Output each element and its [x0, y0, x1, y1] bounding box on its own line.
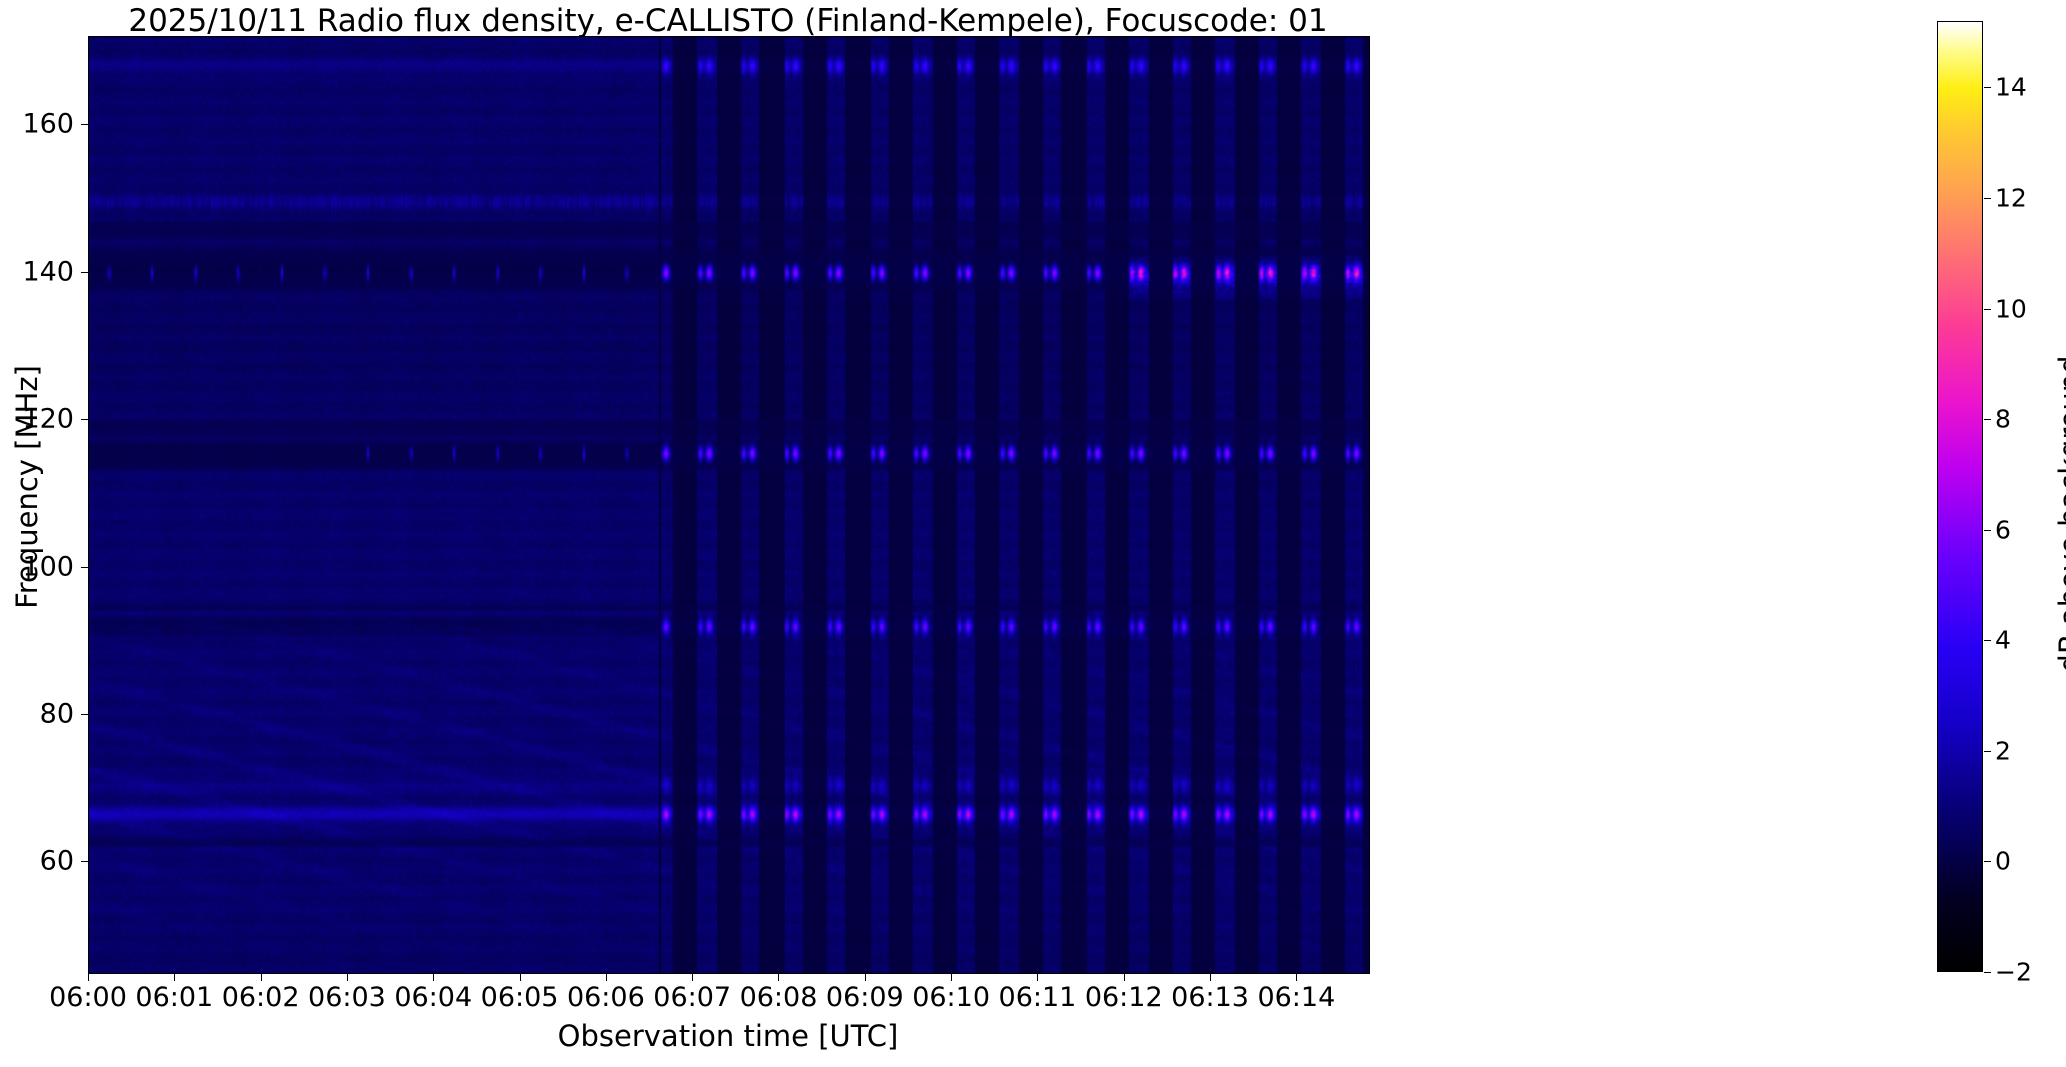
x-tick-label: 06:00: [49, 982, 127, 1013]
x-tick-mark: [174, 974, 175, 981]
x-tick-label: 06:13: [1171, 982, 1249, 1013]
colorbar-title: dB above background: [2053, 274, 2066, 754]
colorbar-tick-mark: [1984, 751, 1991, 752]
y-tick-mark: [81, 419, 88, 420]
colorbar-tick-label: 14: [1995, 73, 2027, 102]
y-axis-title: Frequency [MHz]: [10, 227, 44, 747]
x-tick-label: 06:01: [135, 982, 213, 1013]
y-tick-label: 80: [40, 699, 74, 730]
spectrogram-plot-area[interactable]: [88, 36, 1370, 974]
colorbar-tick-mark: [1984, 640, 1991, 641]
x-tick-label: 06:02: [222, 982, 300, 1013]
x-tick-mark: [1124, 974, 1125, 981]
x-tick-mark: [88, 974, 89, 981]
colorbar-tick-mark: [1984, 861, 1991, 862]
x-tick-label: 06:06: [567, 982, 645, 1013]
chart-title: 2025/10/11 Radio flux density, e-CALLIST…: [0, 3, 1456, 39]
x-tick-label: 06:05: [481, 982, 559, 1013]
colorbar-tick-label: 8: [1995, 405, 2011, 434]
x-tick-label: 06:14: [1257, 982, 1335, 1013]
x-tick-mark: [1296, 974, 1297, 981]
x-tick-label: 06:04: [394, 982, 472, 1013]
x-tick-mark: [433, 974, 434, 981]
x-tick-label: 06:03: [308, 982, 386, 1013]
colorbar-tick-label: 2: [1995, 736, 2011, 765]
colorbar-tick-mark: [1984, 419, 1991, 420]
x-tick-mark: [951, 974, 952, 981]
y-tick-mark: [81, 567, 88, 568]
colorbar-tick-mark: [1984, 309, 1991, 310]
y-tick-mark: [81, 714, 88, 715]
colorbar-tick-mark: [1984, 972, 1991, 973]
colorbar-tick-label: 0: [1995, 847, 2011, 876]
spectrogram-image: [89, 37, 1369, 973]
x-tick-label: 06:10: [912, 982, 990, 1013]
colorbar[interactable]: [1937, 21, 1983, 972]
x-tick-label: 06:08: [740, 982, 818, 1013]
colorbar-tick-mark: [1984, 530, 1991, 531]
y-tick-mark: [81, 124, 88, 125]
colorbar-tick-label: 10: [1995, 294, 2027, 323]
x-tick-label: 06:12: [1085, 982, 1163, 1013]
x-tick-mark: [692, 974, 693, 981]
colorbar-tick-label: 12: [1995, 183, 2027, 212]
y-tick-label: 160: [22, 109, 74, 140]
x-tick-mark: [778, 974, 779, 981]
x-tick-label: 06:09: [826, 982, 904, 1013]
x-tick-mark: [1210, 974, 1211, 981]
figure-root: 2025/10/11 Radio flux density, e-CALLIST…: [0, 0, 2066, 1067]
colorbar-tick-mark: [1984, 198, 1991, 199]
x-tick-mark: [520, 974, 521, 981]
y-tick-label: 60: [40, 846, 74, 877]
x-tick-mark: [606, 974, 607, 981]
colorbar-tick-label: −2: [1995, 958, 2032, 987]
y-tick-mark: [81, 272, 88, 273]
x-tick-mark: [347, 974, 348, 981]
x-axis-title: Observation time [UTC]: [88, 1019, 1368, 1053]
x-tick-mark: [865, 974, 866, 981]
x-tick-mark: [261, 974, 262, 981]
x-tick-label: 06:07: [653, 982, 731, 1013]
colorbar-tick-label: 6: [1995, 515, 2011, 544]
x-tick-label: 06:11: [999, 982, 1077, 1013]
colorbar-gradient: [1937, 21, 1983, 972]
colorbar-tick-mark: [1984, 87, 1991, 88]
colorbar-tick-label: 4: [1995, 626, 2011, 655]
y-tick-mark: [81, 861, 88, 862]
x-tick-mark: [1037, 974, 1038, 981]
